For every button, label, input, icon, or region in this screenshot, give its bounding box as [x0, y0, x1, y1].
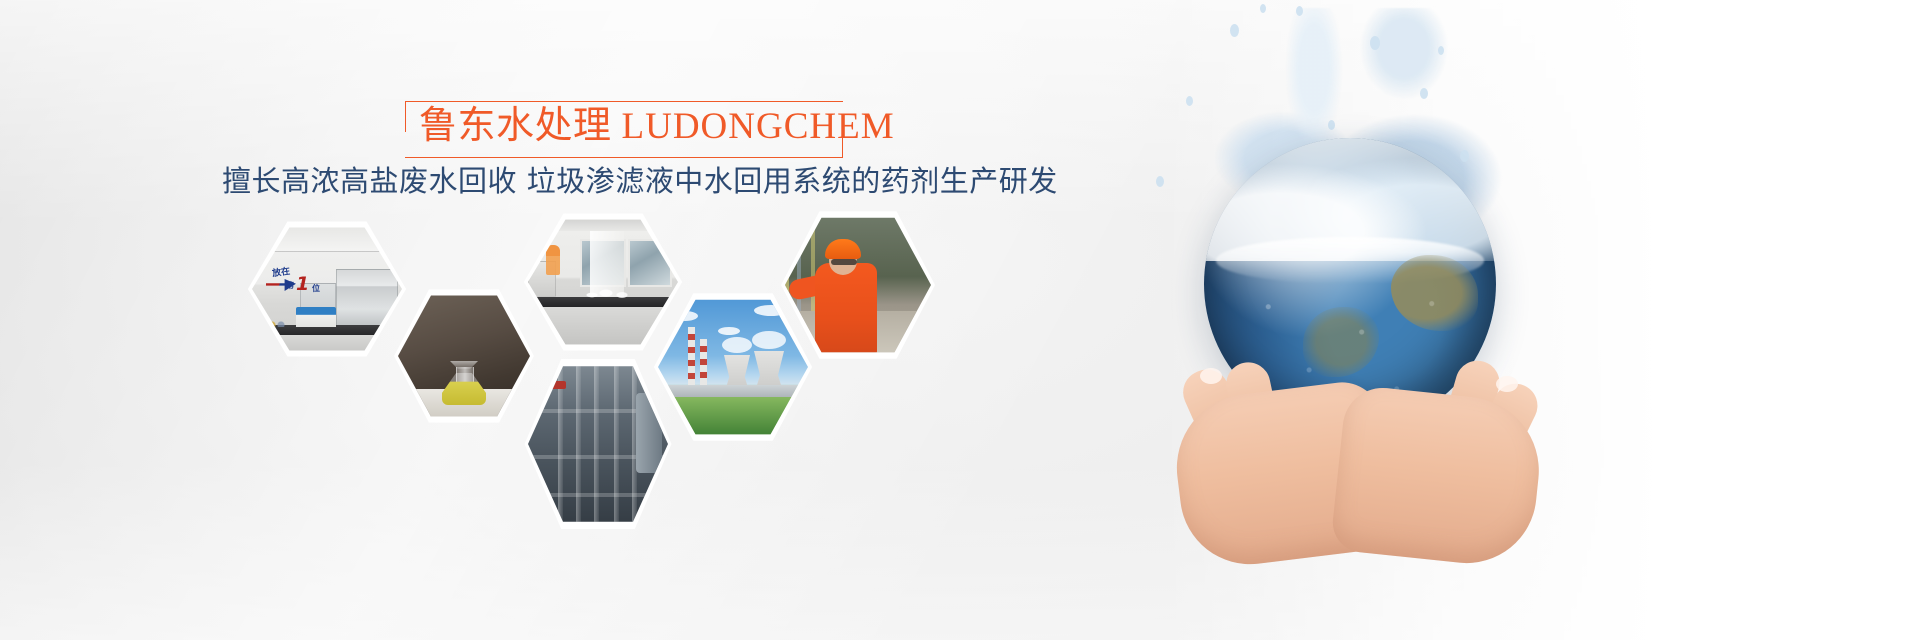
water-droplet-icon	[1370, 36, 1380, 50]
water-droplet-icon	[1230, 24, 1239, 37]
water-droplet-icon	[1156, 176, 1164, 187]
company-title: 鲁东水处理 LUDONGCHEM	[419, 101, 833, 151]
hero-banner: 鲁东水处理 LUDONGCHEM 擅长高浓高盐废水回收 垃圾渗滤液中水回用系统的…	[0, 0, 1920, 640]
company-title-en: LUDONGCHEM	[622, 106, 895, 147]
title-rule-bottom	[405, 157, 825, 158]
company-title-cn: 鲁东水处理	[419, 105, 612, 147]
wall-slogan-graphic: 放在 第 1 位	[266, 265, 340, 299]
water-droplet-icon	[1260, 4, 1266, 13]
cupped-hands	[1134, 320, 1564, 560]
wall-slogan-number: 1	[296, 275, 309, 294]
fingernail	[1496, 376, 1518, 392]
water-droplet-icon	[1438, 46, 1444, 55]
water-droplet-icon	[1296, 6, 1303, 16]
wall-slogan-suffix: 位	[312, 283, 320, 294]
company-title-block: 鲁东水处理 LUDONGCHEM	[405, 101, 843, 153]
banner-subtitle: 擅长高浓高盐废水回收 垃圾渗滤液中水回用系统的药剂生产研发	[222, 160, 982, 202]
water-droplet-icon	[1420, 88, 1428, 99]
hexagon-photo-gallery: 放在 第 1 位	[240, 215, 960, 535]
fingernail	[1200, 368, 1222, 384]
wall-slogan-cn: 放在	[271, 264, 291, 279]
water-droplet-icon	[1186, 96, 1193, 106]
water-droplet-icon	[1328, 120, 1335, 130]
water-globe-artwork	[1120, 0, 1590, 640]
wall-slogan-di: 第	[286, 280, 294, 291]
